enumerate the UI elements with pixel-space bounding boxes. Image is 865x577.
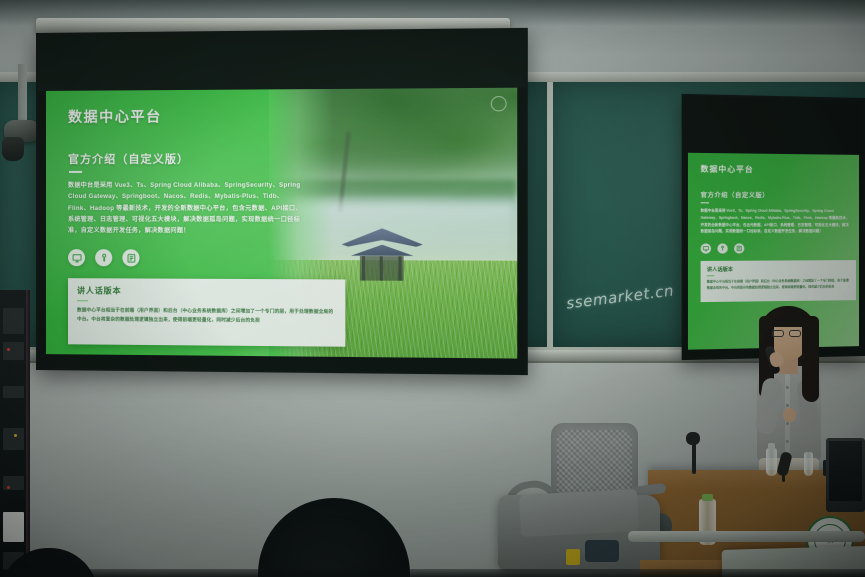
cardigan-button [786,404,789,407]
slide-title: 数据中心平台 [68,105,306,126]
camera-mount [18,64,27,124]
av-equipment-rack[interactable] [0,290,28,577]
microphone-stand [782,470,785,482]
cardigan-button [786,386,789,389]
rack-led-icon [7,348,10,351]
secondary-note-card: 讲人话版本 数据中心平台相当于在前端（用户界面）和后台（中心业务系统数据库）之间… [701,260,856,302]
slide-section-heading: 官方介绍（自定义版） [68,150,306,167]
cardigan-button [786,440,789,443]
secondary-heading-underline [701,202,709,203]
document-icon [734,243,744,253]
presenter-hair-right [802,316,819,402]
rack-panel-light[interactable] [3,512,24,542]
pavilion-column [399,256,402,281]
bottle-cap [702,494,713,501]
water-bottle [804,452,813,476]
rack-unit[interactable] [3,386,24,398]
heading-underline [69,171,82,173]
camera-lens-icon [2,137,24,161]
bottle-cap [768,443,775,449]
note-card-title: 讲人话版本 [77,286,336,299]
glasses-lens-right-icon [789,330,801,337]
monitor-icon [701,243,711,253]
key-icon [95,250,112,267]
slide-body-text: 数据中台是采用 Vue3、Ts、Spring Cloud Alibaba、Spr… [68,180,306,237]
secondary-note-underline [707,275,714,276]
monitor-screen [829,441,862,501]
presentation-slide: 数据中心平台 官方介绍（自定义版） 数据中台是采用 Vue3、Ts、Spring… [46,88,517,359]
microphone-head-icon [686,432,700,445]
presenter-hand-gesture [783,408,796,422]
bag-tag [566,549,580,565]
main-projection-screen: 数据中心平台 官方介绍（自定义版） 数据中台是采用 Vue3、Ts、Spring… [36,28,528,375]
cardigan-button [786,422,789,425]
slide-text-column: 数据中心平台 官方介绍（自定义版） 数据中台是采用 Vue3、Ts、Spring… [46,89,316,357]
rack-unit[interactable] [3,428,24,450]
photo-watermark-logo-icon [491,96,507,112]
pavilion-column [362,256,365,281]
rack-unit[interactable] [3,342,24,360]
secondary-icon-row [701,243,851,254]
slide-icon-row [68,249,306,267]
secondary-body-text: 数据中台是采用 Vue3、Ts、Spring Cloud Alibaba、Spr… [701,208,851,235]
rack-side-edge [26,290,30,577]
note-card-underline [77,300,88,302]
pavilion-column [380,256,383,281]
rack-unit[interactable] [3,308,24,334]
bag-pocket [585,540,619,562]
secondary-note-body: 数据中心平台相当于在前端（用户界面）和后台（中心业务系统数据库）之间增加了一个专… [707,278,850,291]
microphone-stand [692,440,696,474]
pavilion-icon [342,228,423,285]
secondary-note-title: 讲人话版本 [707,265,850,273]
document-icon [122,250,139,267]
foreground-rail [628,531,865,542]
key-icon [717,243,727,253]
secondary-section-heading: 官方介绍（自定义版） [701,190,851,200]
monitor-icon [68,249,85,266]
note-card-body: 数据中心平台相当于在前端（用户界面）和后台（中心业务系统数据库）之间增加了一个专… [77,307,336,327]
secondary-slide-title: 数据中心平台 [701,163,851,176]
screen-letterbox-top [38,30,526,91]
note-card: 讲人话版本 数据中心平台相当于在前端（用户界面）和后台（中心业务系统数据库）之间… [68,278,345,347]
rack-led-icon [14,434,17,437]
lecture-hall-photo: ssemarket.cn [0,0,865,577]
glasses-lens-left-icon [772,330,784,337]
bag-flap [519,489,639,537]
rack-led-icon [7,486,10,489]
foreground-shadow [0,569,865,577]
water-bottle [766,448,777,476]
